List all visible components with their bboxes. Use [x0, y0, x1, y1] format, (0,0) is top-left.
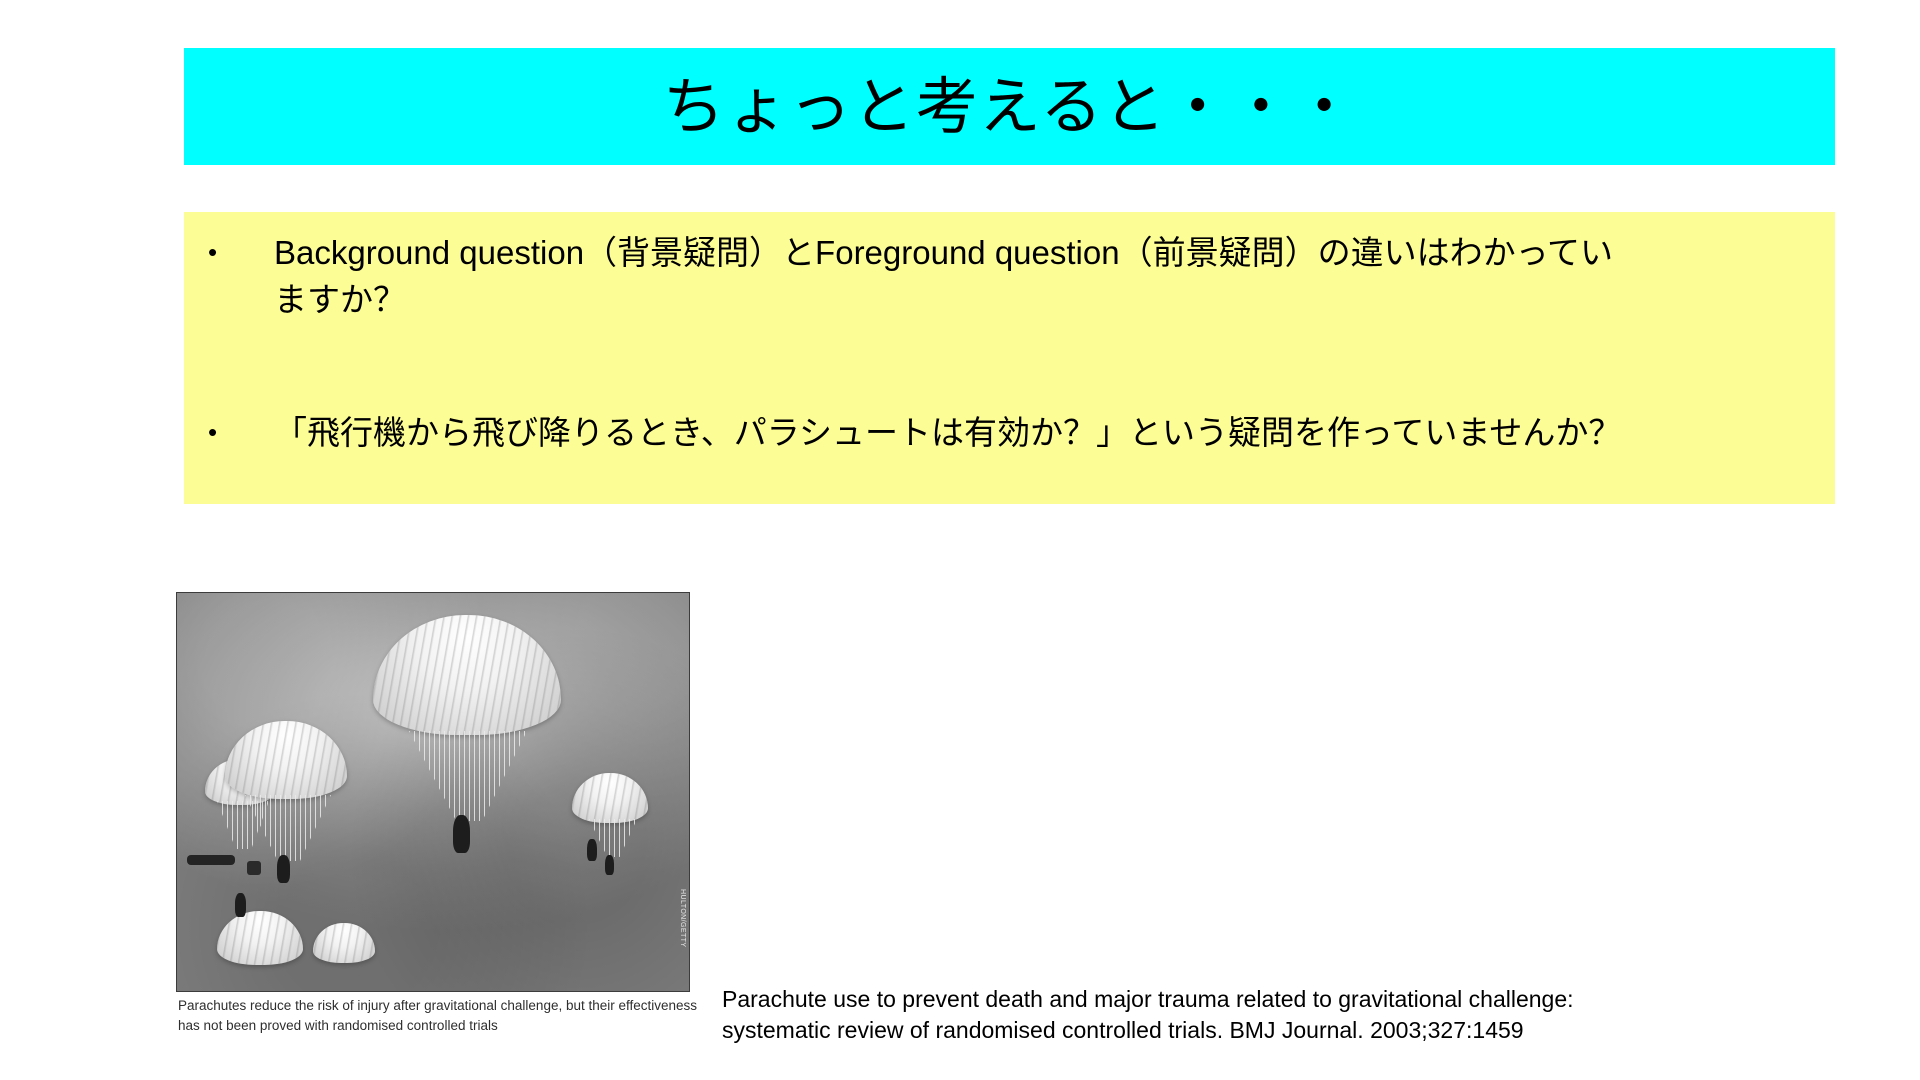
bullet-marker-icon: •	[190, 230, 234, 276]
parachutist-icon	[605, 855, 614, 875]
parachute-photo: HULTON/GETTY	[176, 592, 690, 992]
title-banner: ちょっと考えると・・・	[184, 48, 1835, 165]
parachutist-icon	[587, 839, 597, 861]
photo-credit: HULTON/GETTY	[679, 889, 686, 947]
content-box: • Background question（背景疑問）とForeground q…	[184, 212, 1835, 504]
bullet-text-1-line-2: ますか？	[274, 277, 1823, 324]
ground-object-icon	[187, 855, 235, 865]
slide-title: ちょっと考えると・・・	[663, 74, 1357, 139]
bullet-item-1: • Background question（背景疑問）とForeground q…	[190, 230, 1829, 324]
parachutist-icon	[277, 855, 290, 883]
parachute-photo-block: HULTON/GETTY Parachutes reduce the risk …	[176, 592, 690, 1005]
parachutist-icon	[453, 815, 470, 853]
bullet-marker-icon: •	[190, 410, 234, 456]
reference-line-1: Parachute use to prevent death and major…	[722, 984, 1782, 1015]
photo-caption: Parachutes reduce the risk of injury aft…	[178, 996, 704, 1037]
ground-object-icon	[247, 861, 261, 875]
bullet-text-2-line-1: 「飛行機から飛び降りるとき、パラシュートは有効か？」という疑問を作っていませんか…	[274, 410, 1823, 457]
reference-line-2: systematic review of randomised controll…	[722, 1015, 1782, 1046]
reference-citation: Parachute use to prevent death and major…	[722, 984, 1782, 1047]
bullet-text-1: Background question（背景疑問）とForeground que…	[234, 230, 1829, 324]
slide-canvas: ちょっと考えると・・・ • Background question（背景疑問）と…	[0, 0, 1920, 1080]
parachutist-icon	[235, 893, 246, 917]
bullet-text-2: 「飛行機から飛び降りるとき、パラシュートは有効か？」という疑問を作っていませんか…	[234, 410, 1829, 457]
photo-caption-line-2: not been proved with randomised controll…	[204, 1018, 498, 1033]
bullet-text-1-line-1: Background question（背景疑問）とForeground que…	[274, 230, 1823, 277]
bullet-item-2: • 「飛行機から飛び降りるとき、パラシュートは有効か？」という疑問を作っていませ…	[190, 410, 1829, 457]
